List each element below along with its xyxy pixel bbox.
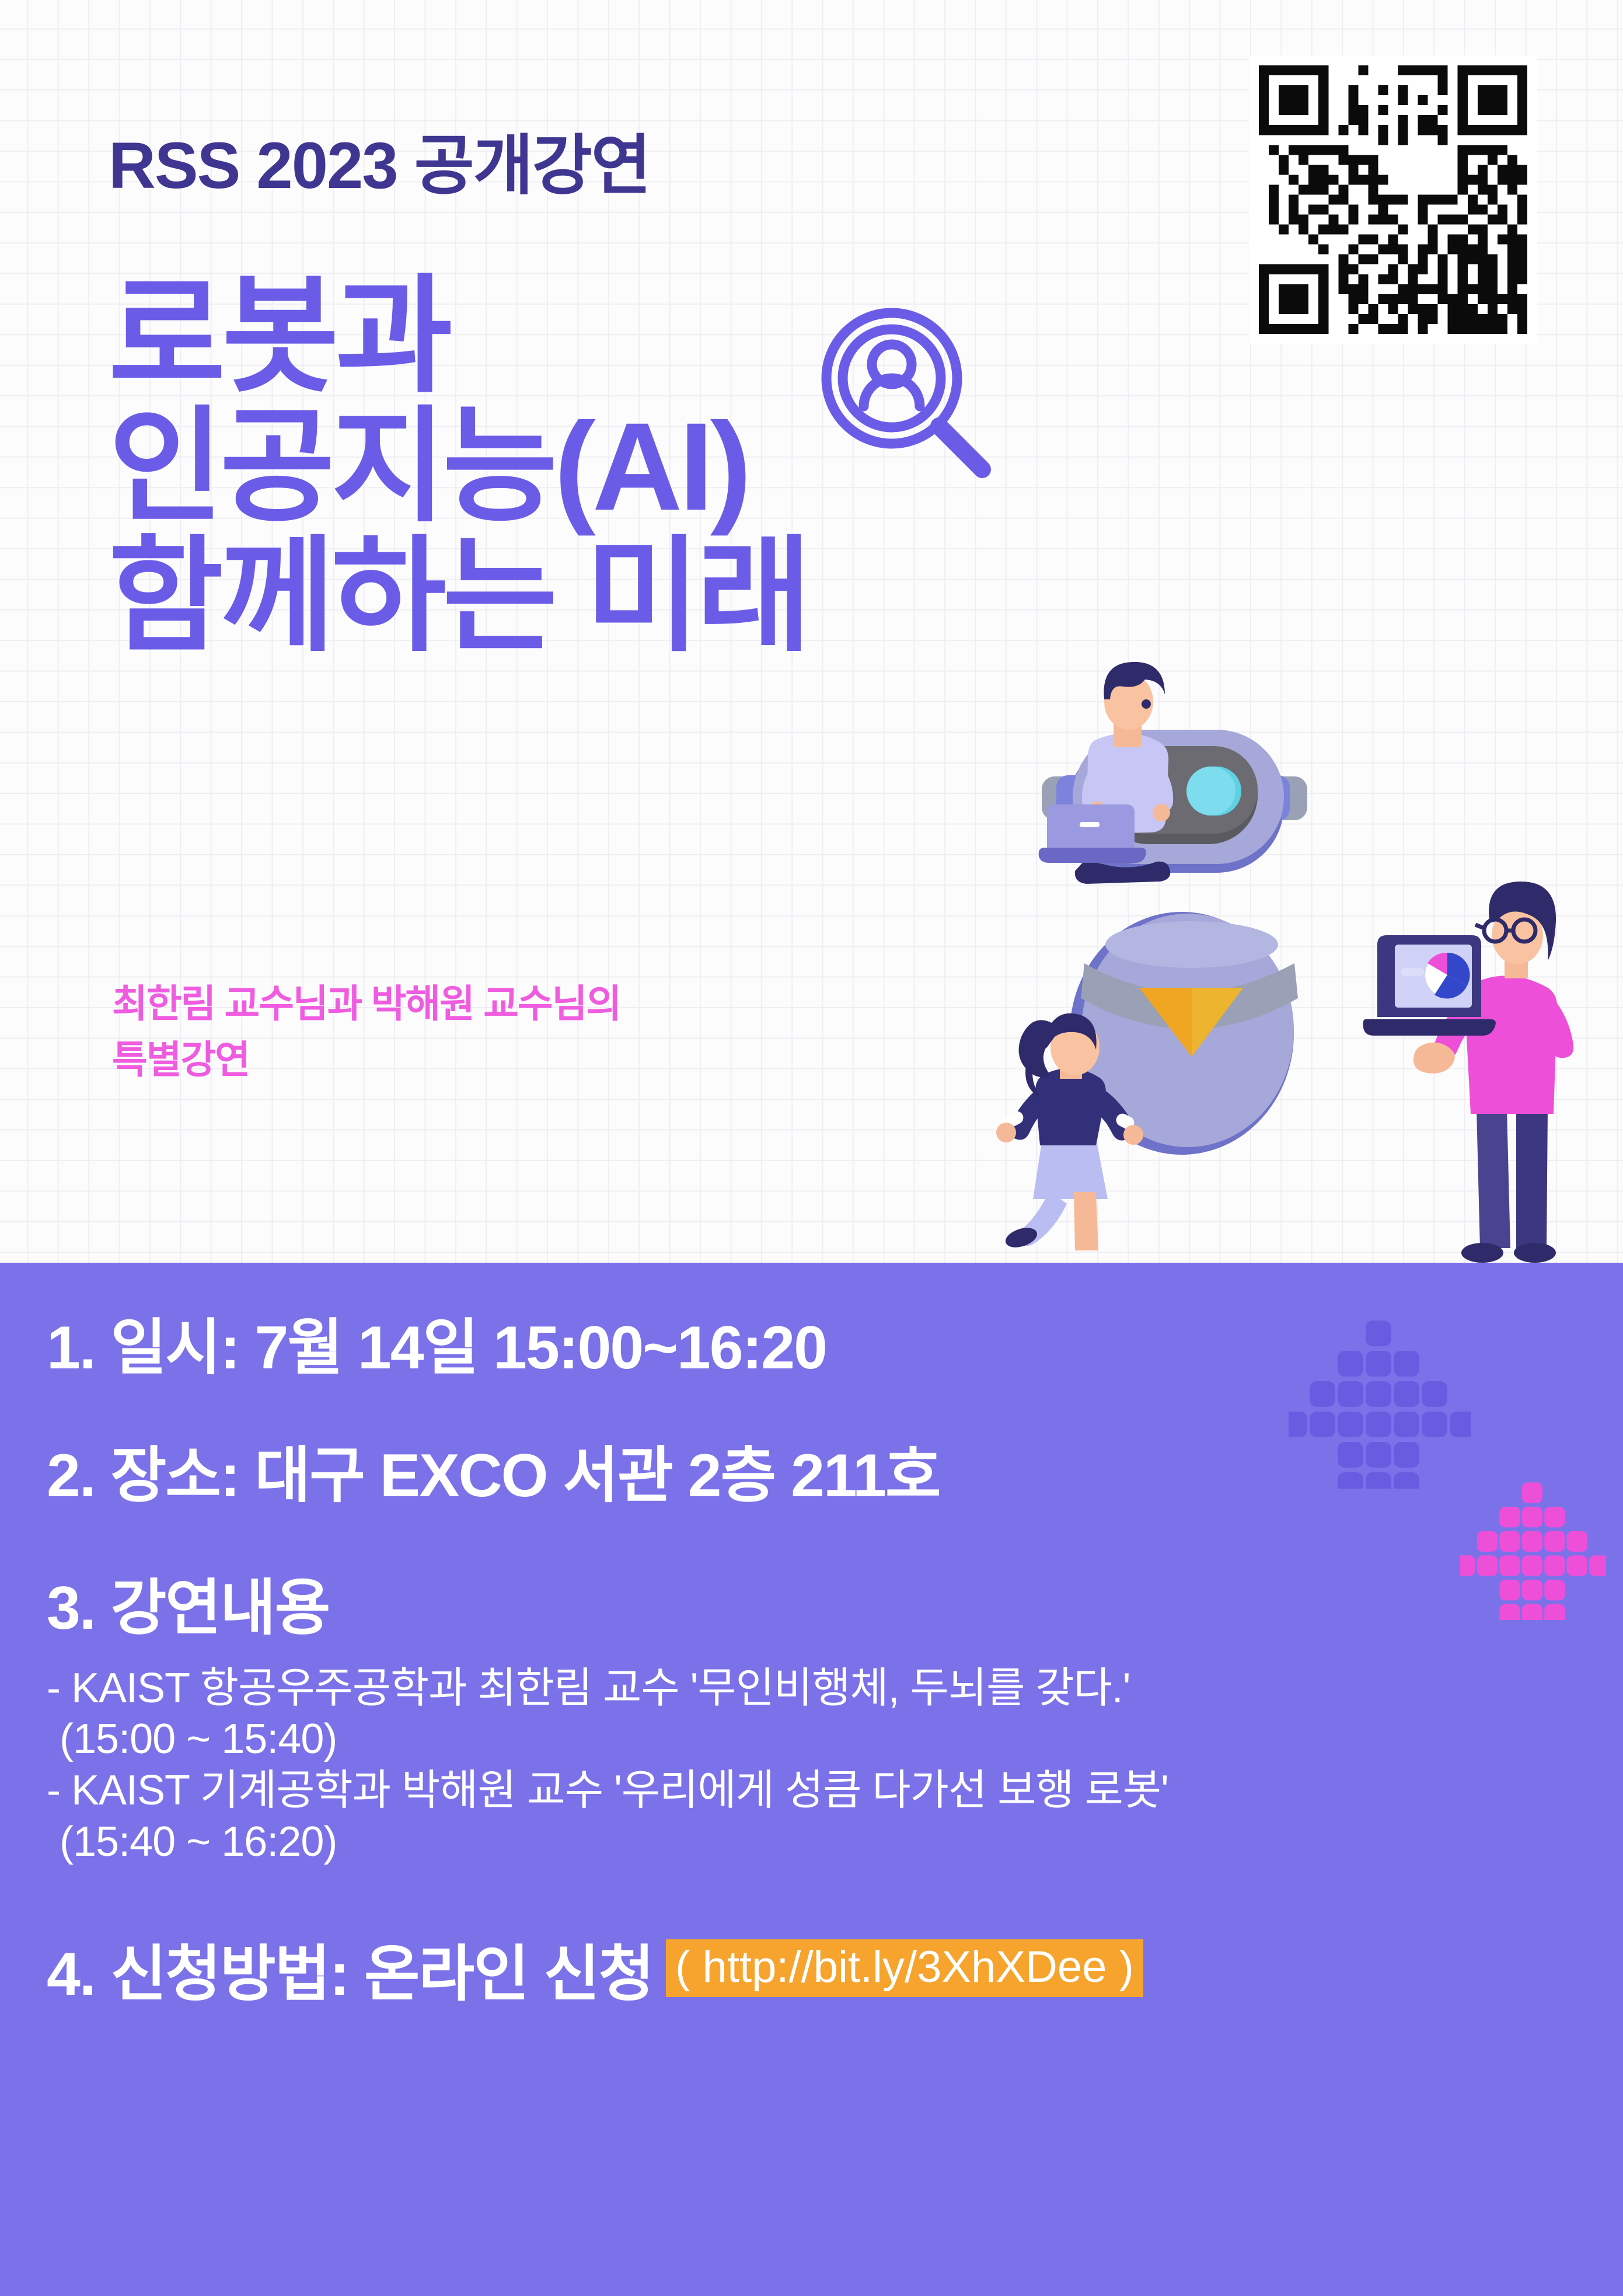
person-search-magnifier-icon — [814, 304, 1001, 490]
poster-root: RSS 2023 공개강연 — [0, 0, 1623, 2296]
title-line-3: 함께하는 미래 — [109, 536, 808, 656]
apply-label: 4. 신청방법: 온라인 신청 — [47, 1924, 653, 2012]
info-item-datetime: 1. 일시: 7월 14일 15:00~16:20 — [47, 1316, 1587, 1380]
spacer — [47, 1641, 1587, 1663]
program-time-2: (15:40 ~ 16:20) — [47, 1817, 1587, 1868]
spacer — [47, 1868, 1587, 1924]
page-title: 로봇과 인공지능(AI) 함께하는 미래 — [109, 276, 808, 666]
subtitle: 최한림 교수님과 박해원 교수님의 특별강연 — [112, 976, 620, 1088]
program-bullet-2: - KAIST 기계공학과 박해원 교수 '우리에게 성큼 다가선 보행 로봇' — [47, 1765, 1587, 1817]
spacer — [47, 1508, 1587, 1577]
subtitle-line-1: 최한림 교수님과 박해원 교수님의 — [112, 976, 620, 1032]
info-item-apply: 4. 신청방법: 온라인 신청 ( http://bit.ly/3XhXDee … — [47, 1924, 1587, 2012]
event-kicker: RSS 2023 공개강연 — [109, 133, 650, 198]
subtitle-line-2: 특별강연 — [112, 1032, 620, 1088]
spacer — [47, 1380, 1587, 1444]
info-item-program-heading: 3. 강연내용 — [47, 1577, 1587, 1640]
registration-url[interactable]: ( http://bit.ly/3XhXDee ) — [666, 1939, 1143, 1998]
info-list: 1. 일시: 7월 14일 15:00~16:20 2. 장소: 대구 EXCO… — [47, 1316, 1587, 2012]
title-line-1: 로봇과 — [109, 276, 808, 398]
title-line-2: 인공지능(AI) — [109, 407, 808, 527]
robot-with-people-illustration — [986, 590, 1623, 1264]
program-bullet-1: - KAIST 항공우주공학과 최한림 교수 '무인비행체, 두뇌를 갖다.' — [47, 1663, 1587, 1715]
info-item-venue: 2. 장소: 대구 EXCO 서관 2층 211호 — [47, 1444, 1587, 1508]
qr-code[interactable] — [1249, 55, 1537, 344]
program-time-1: (15:00 ~ 15:40) — [47, 1714, 1587, 1765]
